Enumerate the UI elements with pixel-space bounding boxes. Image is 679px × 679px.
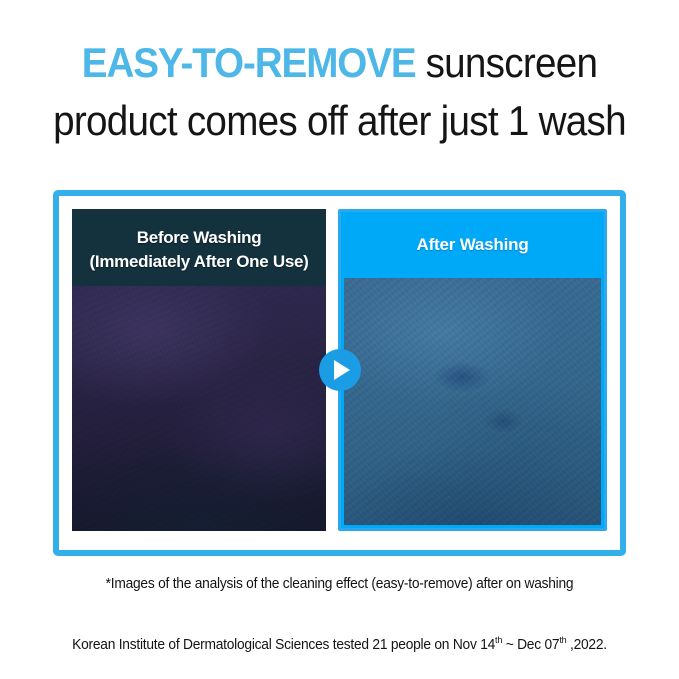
figure-frame: Before Washing (Immediately After One Us… [53,190,626,556]
headline-block: EASY-TO-REMOVE sunscreen product comes o… [0,0,679,148]
caption-source: Korean Institute of Dermatological Scien… [17,637,662,653]
headline-line-2: product comes off after just 1 wash [49,94,630,148]
headline-line-1: EASY-TO-REMOVE sunscreen [49,36,630,90]
after-washing-header: After Washing [341,212,604,278]
panel-before-washing[interactable]: Before Washing (Immediately After One Us… [72,209,326,531]
caption-source-part-1: Korean Institute of Dermatological Scien… [72,637,495,653]
before-washing-image [72,286,326,531]
headline-accent-word: EASY-TO-REMOVE [82,39,416,86]
play-triangle-glyph [334,360,350,380]
caption-source-superscript-1: th [495,635,502,646]
caption-source-part-2: ~ Dec 07 [502,637,559,653]
after-washing-header-label: After Washing [417,235,529,255]
before-washing-header: Before Washing (Immediately After One Us… [72,209,326,286]
caption-source-part-3: ,2022. [566,637,606,653]
play-icon[interactable] [319,349,361,391]
before-washing-header-line-2: (Immediately After One Use) [90,251,309,272]
comparison-figure: Before Washing (Immediately After One Us… [53,190,626,556]
caption-note: *Images of the analysis of the cleaning … [17,576,662,592]
figure-panels: Before Washing (Immediately After One Us… [72,209,607,531]
after-washing-image [344,278,601,525]
panel-after-washing[interactable]: After Washing [338,209,607,531]
before-washing-header-line-1: Before Washing [137,227,262,248]
headline-line-1-rest: sunscreen [416,39,598,86]
